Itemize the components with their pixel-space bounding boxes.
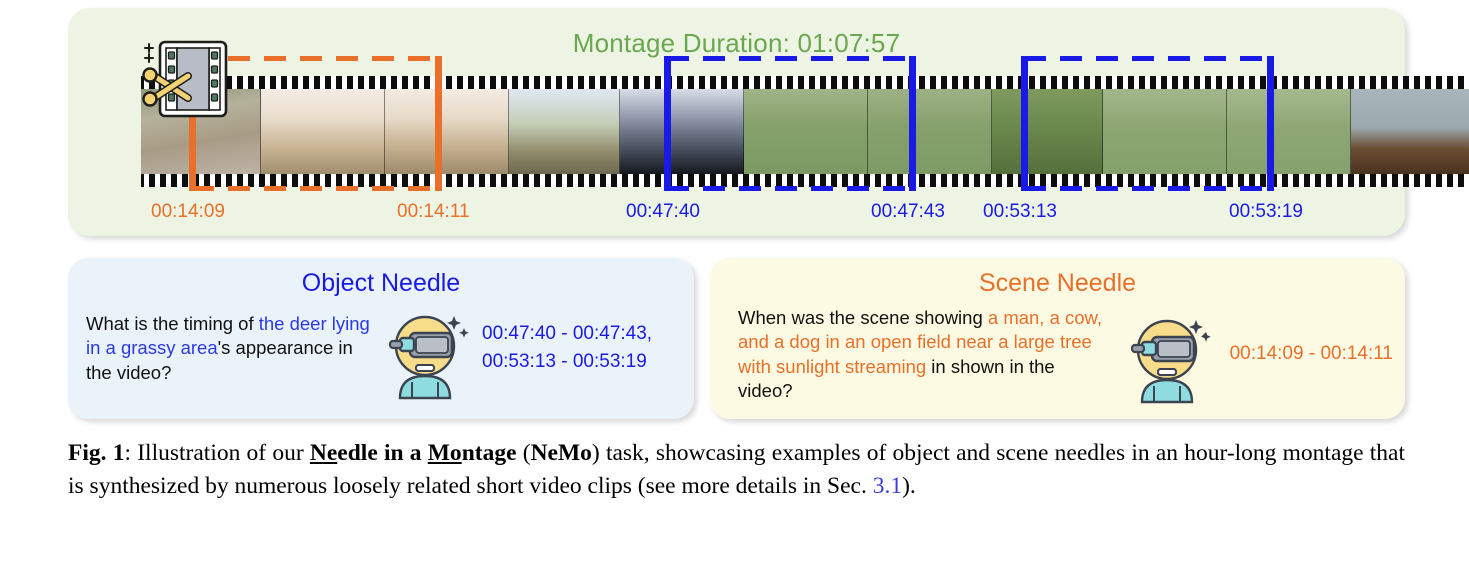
scene-needle-card: Scene Needle When was the scene showing … bbox=[710, 258, 1405, 419]
scene-segment-dash-bottom bbox=[192, 186, 438, 191]
film-frame-cow-and-dog-field-1 bbox=[261, 89, 385, 174]
film-clip-scissors-icon bbox=[138, 32, 240, 130]
object-segment-2-start-time: 00:53:13 bbox=[983, 201, 1057, 223]
film-frame-deer-lying-in-grass-2 bbox=[868, 89, 992, 174]
object-segment-2-end-handle[interactable] bbox=[1267, 56, 1274, 191]
object-needle-card: Object Needle What is the timing of the … bbox=[68, 258, 694, 419]
scene-needle-title: Scene Needle bbox=[710, 269, 1405, 298]
object-segment-1-dash-bottom bbox=[667, 186, 912, 191]
vr-headset-person-icon bbox=[1122, 312, 1214, 404]
object-needle-answer: 00:47:40 - 00:47:43, 00:53:13 - 00:53:19 bbox=[482, 320, 652, 375]
object-segment-2-end-time: 00:53:19 bbox=[1229, 201, 1303, 223]
film-frame-snowy-mountain bbox=[620, 89, 744, 174]
caption-ne: Ne bbox=[310, 440, 337, 466]
scene-needle-question: When was the scene showing a man, a cow,… bbox=[722, 306, 1110, 404]
section-link[interactable]: 3.1 bbox=[873, 473, 902, 499]
scene-segment-end-handle[interactable] bbox=[435, 56, 442, 191]
caption-part1: : Illustration of our bbox=[124, 440, 309, 466]
caption-nemo-paren: (NeMo) bbox=[523, 440, 600, 466]
scene-segment-start-time: 00:14:09 bbox=[151, 201, 225, 223]
object-needle-question: What is the timing of the deer lying in … bbox=[80, 306, 376, 385]
object-segment-2-dash-top bbox=[1024, 56, 1270, 61]
object-question-part-0: What is the timing of bbox=[86, 313, 259, 334]
figure-caption: Fig. 1: Illustration of our Needle in a … bbox=[68, 437, 1405, 504]
object-segment-1-start-time: 00:47:40 bbox=[626, 201, 700, 223]
object-segment-1-end-handle[interactable] bbox=[909, 56, 916, 191]
film-frame-cow-and-dog-field-2 bbox=[385, 89, 509, 174]
scene-segment-end-time: 00:14:11 bbox=[397, 201, 470, 223]
figure-label: Fig. 1 bbox=[68, 440, 124, 466]
film-frame-person-on-hillside bbox=[509, 89, 620, 174]
film-frame-deer-in-tall-grass-2 bbox=[1227, 89, 1351, 174]
caption-mo: Mo bbox=[428, 440, 462, 466]
scene-question-part-0: When was the scene showing bbox=[738, 307, 988, 328]
film-frame-bird-behind-fence bbox=[992, 89, 1103, 174]
film-frame-shorebirds-on-beach bbox=[1351, 89, 1469, 174]
object-segment-2-dash-bottom bbox=[1024, 186, 1270, 191]
object-segment-2-start-handle[interactable] bbox=[1021, 56, 1028, 191]
vr-headset-person-icon bbox=[380, 308, 472, 400]
film-frame-deer-lying-in-grass-1 bbox=[744, 89, 868, 174]
scene-needle-answer: 00:14:09 - 00:14:11 bbox=[1230, 340, 1393, 368]
film-frame-deer-in-tall-grass-1 bbox=[1103, 89, 1227, 174]
caption-part3: ). bbox=[902, 473, 916, 499]
montage-panel: Montage Duration: 01:07:57 bbox=[68, 8, 1405, 236]
object-segment-1-end-time: 00:47:43 bbox=[871, 201, 945, 223]
caption-ntage: ntage bbox=[462, 440, 523, 466]
caption-edle: edle in a bbox=[337, 440, 427, 466]
object-needle-title: Object Needle bbox=[68, 269, 694, 298]
object-segment-1-dash-top bbox=[667, 56, 912, 61]
montage-duration-title: Montage Duration: 01:07:57 bbox=[68, 28, 1405, 59]
object-segment-1-start-handle[interactable] bbox=[664, 56, 671, 191]
